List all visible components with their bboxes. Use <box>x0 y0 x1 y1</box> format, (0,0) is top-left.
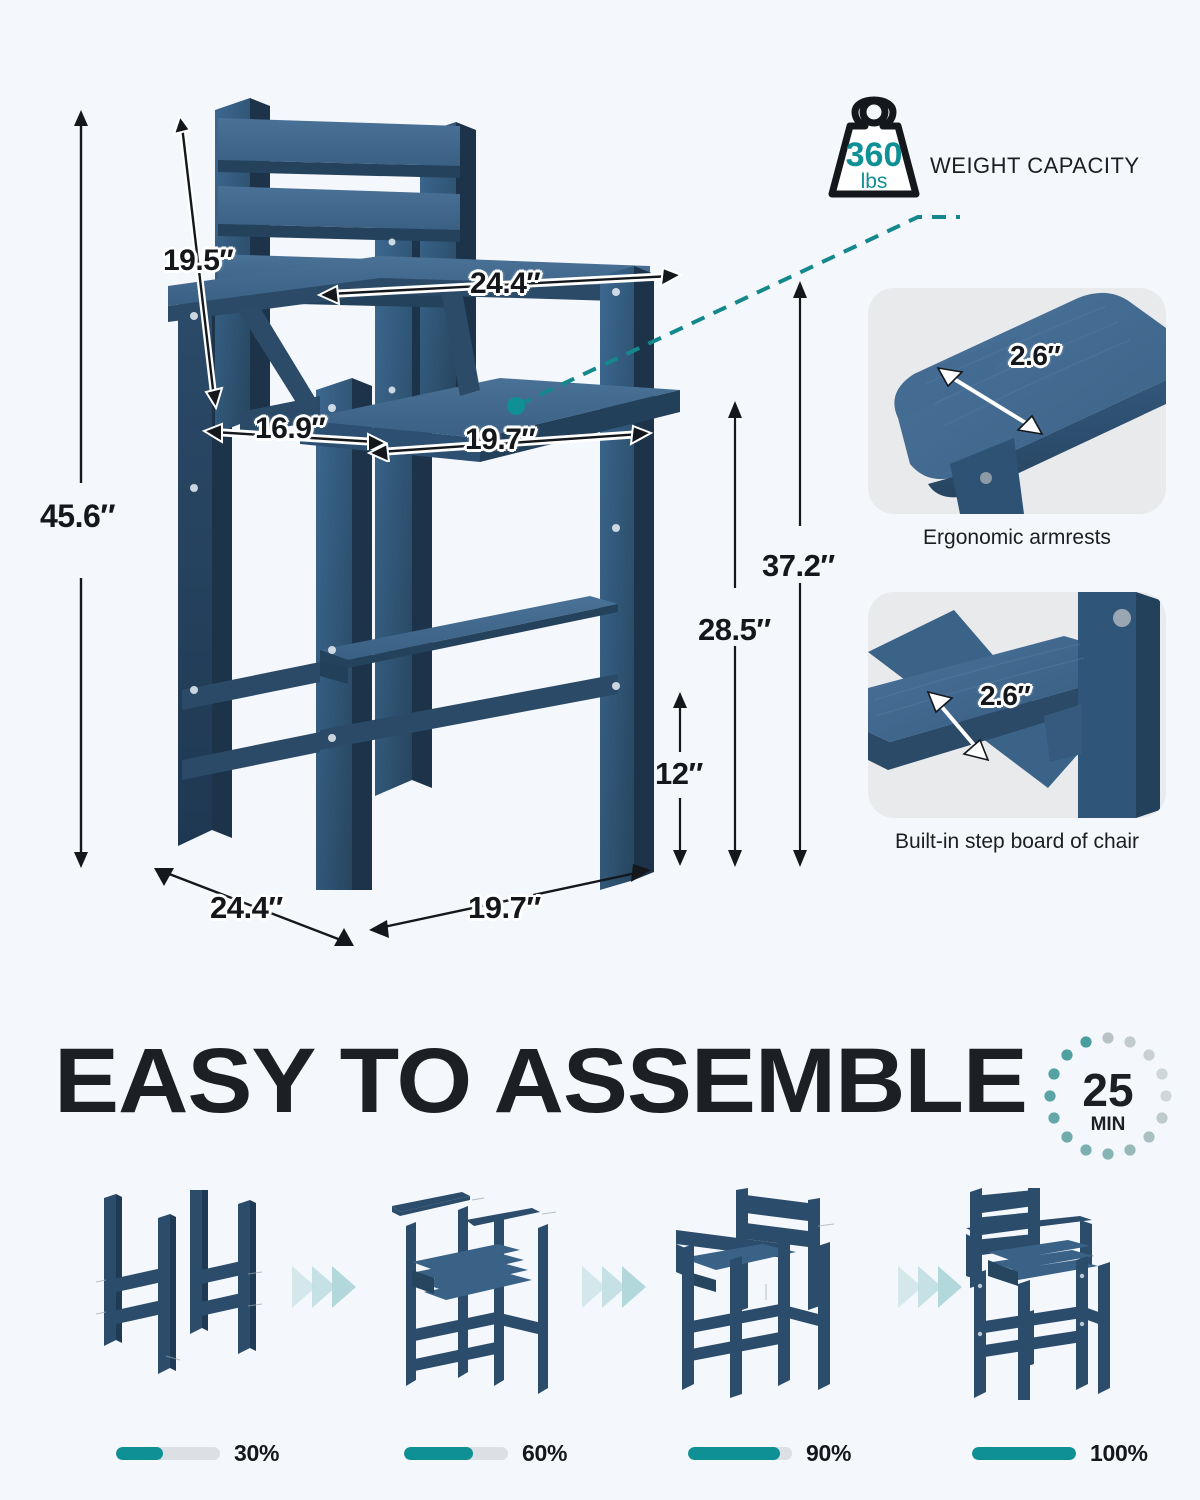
base-width-label: 19.7″ <box>468 890 541 926</box>
base-depth-label: 24.4″ <box>210 890 283 926</box>
svg-text:25: 25 <box>1082 1064 1133 1116</box>
assembly-progress-1: 30% <box>116 1440 279 1467</box>
assembly-progress-4: 100% <box>972 1440 1148 1467</box>
progress-label-3: 90% <box>806 1440 851 1467</box>
assembly-step-4-image <box>952 1188 1142 1400</box>
infographic-root: 45.6″ 19.5″ 24.4″ 16.9″ <box>0 0 1200 1500</box>
assembly-title: EASY TO ASSEMBLE <box>54 1038 1027 1125</box>
weight-capacity-label: WEIGHT CAPACITY <box>930 153 1140 179</box>
overall-height-dimension <box>58 108 104 878</box>
backrest-height-label: 19.5″ <box>163 244 233 278</box>
step-board-card-caption: Built-in step board of chair <box>868 830 1166 854</box>
back-height-label: 37.2″ <box>762 548 835 584</box>
detail-card-step-board[interactable]: 2.6″ Built-in step board of chair <box>868 592 1166 854</box>
svg-text:MIN: MIN <box>1091 1114 1126 1135</box>
weight-capacity-badge: 360 lbs WEIGHT CAPACITY <box>828 86 1140 200</box>
progress-fill-1 <box>116 1447 163 1460</box>
seat-width-label: 19.7″ <box>465 423 535 457</box>
assembly-progress-2: 60% <box>404 1440 567 1467</box>
assembly-step-1-image <box>96 1190 276 1390</box>
armrest-card-caption: Ergonomic armrests <box>868 526 1166 550</box>
dimensions-section: 45.6″ 19.5″ 24.4″ 16.9″ <box>0 0 1200 990</box>
armrest-measurement-label: 2.6″ <box>1010 340 1060 372</box>
footrest-height-label: 12″ <box>655 756 703 792</box>
detail-card-armrest[interactable]: 2.6″ Ergonomic armrests <box>868 288 1166 550</box>
armrest-card-image: 2.6″ <box>868 288 1166 514</box>
progress-fill-3 <box>688 1447 780 1460</box>
progress-fill-2 <box>404 1447 473 1460</box>
svg-text:lbs: lbs <box>861 170 888 193</box>
assembly-progress-3: 90% <box>688 1440 851 1467</box>
progress-label-1: 30% <box>234 1440 279 1467</box>
progress-track-2 <box>404 1447 508 1460</box>
assembly-step-2-image <box>388 1190 578 1396</box>
assembly-arrow-2 <box>580 1262 654 1312</box>
progress-label-4: 100% <box>1090 1440 1148 1467</box>
assembly-time-badge: 25 MIN <box>1042 1030 1174 1167</box>
assembly-arrow-1 <box>290 1262 364 1312</box>
progress-track-3 <box>688 1447 792 1460</box>
overall-height-label: 45.6″ <box>40 498 115 535</box>
step-board-measurement-label: 2.6″ <box>980 680 1030 712</box>
progress-label-2: 60% <box>522 1440 567 1467</box>
progress-track-4 <box>972 1447 1076 1460</box>
seat-depth-label: 16.9″ <box>255 412 325 446</box>
weight-icon: 360 lbs <box>828 86 920 200</box>
assembly-section: EASY TO ASSEMBLE <box>0 1000 1200 1500</box>
seat-height-label: 28.5″ <box>698 612 771 648</box>
assembly-step-3-image <box>666 1188 856 1398</box>
progress-fill-4 <box>972 1447 1076 1460</box>
progress-track-1 <box>116 1447 220 1460</box>
svg-text:360: 360 <box>846 136 903 174</box>
step-board-card-image: 2.6″ <box>868 592 1166 818</box>
